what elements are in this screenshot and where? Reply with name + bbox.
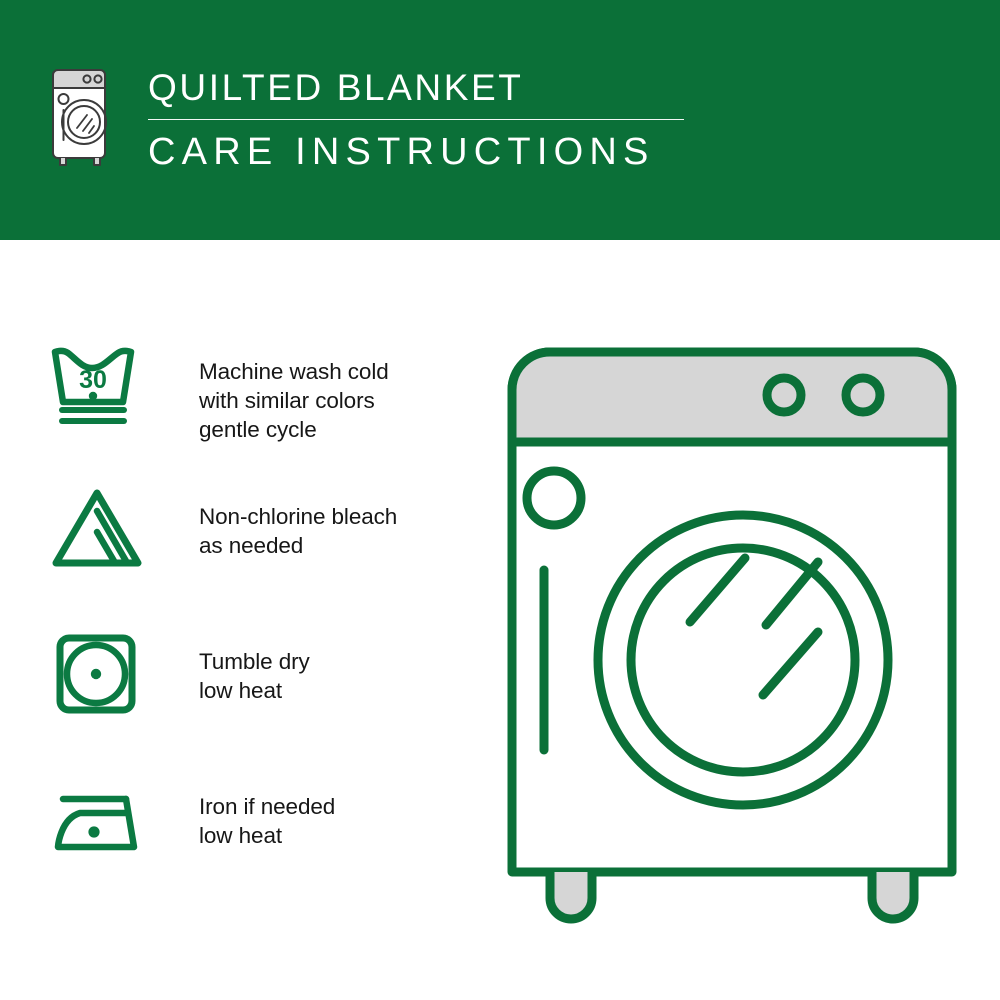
instruction-line: Non-chlorine bleach bbox=[199, 502, 397, 531]
page-subtitle: CARE INSTRUCTIONS bbox=[148, 130, 684, 174]
instruction-line: with similar colors bbox=[199, 386, 389, 415]
symbol-slot bbox=[48, 485, 156, 571]
page-title: QUILTED BLANKET bbox=[148, 66, 684, 110]
machine-leg-right bbox=[872, 872, 914, 919]
instruction-line: low heat bbox=[199, 821, 335, 850]
list-item: 30 Machine wash cold with similar colors… bbox=[48, 340, 468, 485]
machine-wash-30-gentle-icon: 30 bbox=[48, 340, 146, 426]
wash-temperature-value: 30 bbox=[79, 366, 107, 394]
control-panel bbox=[512, 352, 952, 442]
list-item: Non-chlorine bleach as needed bbox=[48, 485, 468, 630]
non-chlorine-bleach-icon bbox=[48, 485, 146, 571]
list-item: Iron if needed low heat bbox=[48, 775, 468, 920]
instruction-line: low heat bbox=[199, 676, 310, 705]
symbol-slot bbox=[48, 775, 156, 861]
instruction-line: as needed bbox=[199, 531, 397, 560]
front-load-washing-machine-illustration bbox=[488, 330, 976, 930]
instruction-text: Iron if needed low heat bbox=[199, 775, 335, 850]
instruction-line: gentle cycle bbox=[199, 415, 389, 444]
title-divider bbox=[148, 119, 684, 120]
symbol-slot: 30 bbox=[48, 340, 156, 426]
list-item: Tumble dry low heat bbox=[48, 630, 468, 775]
iron-low-heat-icon bbox=[48, 775, 146, 861]
instruction-line: Iron if needed bbox=[199, 792, 335, 821]
instruction-text: Tumble dry low heat bbox=[199, 630, 310, 705]
instructions-list: 30 Machine wash cold with similar colors… bbox=[48, 340, 468, 920]
instruction-text: Machine wash cold with similar colors ge… bbox=[199, 340, 389, 444]
header-content: QUILTED BLANKET CARE INSTRUCTIONS bbox=[44, 62, 684, 174]
machine-leg-left bbox=[550, 872, 592, 919]
instruction-line: Machine wash cold bbox=[199, 357, 389, 386]
washing-machine-icon bbox=[44, 62, 122, 172]
care-instructions-infographic: QUILTED BLANKET CARE INSTRUCTIONS 30 Mac… bbox=[0, 0, 1000, 1000]
tumble-dry-low-icon bbox=[48, 630, 146, 716]
header-banner: QUILTED BLANKET CARE INSTRUCTIONS bbox=[0, 0, 1000, 240]
header-title-group: QUILTED BLANKET CARE INSTRUCTIONS bbox=[148, 62, 684, 174]
instruction-line: Tumble dry bbox=[199, 647, 310, 676]
instruction-text: Non-chlorine bleach as needed bbox=[199, 485, 397, 560]
symbol-slot bbox=[48, 630, 156, 716]
